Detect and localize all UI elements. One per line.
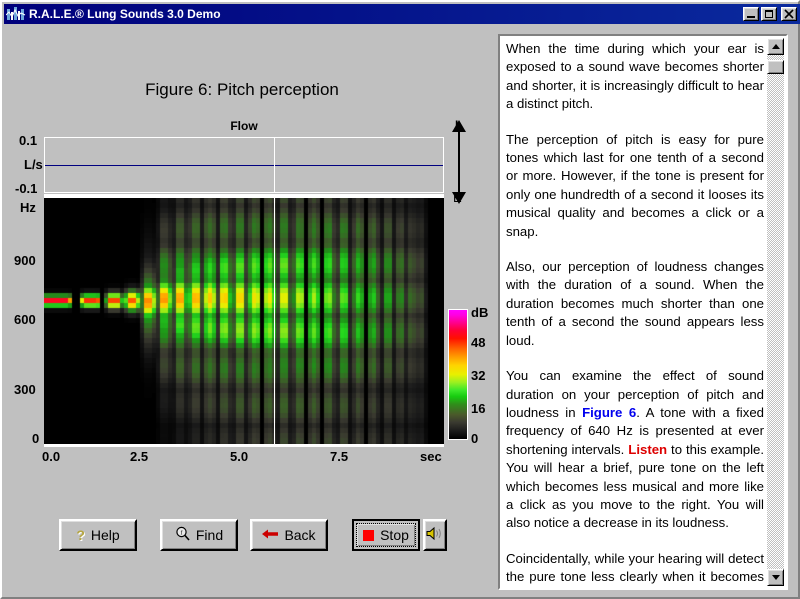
help-button[interactable]: ? Help [59, 519, 137, 551]
colorbar-unit-label: dB [471, 305, 488, 320]
close-icon [782, 8, 796, 20]
window-controls [743, 7, 797, 21]
stop-square-icon [363, 530, 374, 541]
figure-link[interactable]: Figure 6 [582, 405, 636, 420]
magnifier-icon: f [175, 526, 190, 544]
frequency-tick-600: 600 [14, 312, 36, 327]
svg-text:f: f [180, 529, 182, 536]
flow-zero-line [45, 165, 443, 166]
scrollbar-thumb[interactable] [767, 60, 784, 74]
time-tick-0: 0.0 [42, 449, 60, 464]
paragraph: Coincidentally, while your hearing will … [506, 550, 764, 590]
frequency-tick-900: 900 [14, 253, 36, 268]
explanation-text-panel[interactable]: When the time during which your ear is e… [498, 34, 788, 590]
back-button[interactable]: Back [250, 519, 328, 551]
triangle-up-icon [772, 44, 780, 49]
colorbar-tick-32: 32 [471, 368, 485, 383]
flow-axis-unit-label: L/s [24, 157, 43, 172]
find-button[interactable]: f Find [160, 519, 238, 551]
spectrogram-cursor-line [274, 198, 275, 444]
title-bar[interactable]: R.A.L.E.® Lung Sounds 3.0 Demo [4, 4, 800, 24]
maximize-button[interactable] [761, 7, 777, 21]
time-axis-unit: sec [420, 449, 442, 464]
scrollbar-vertical[interactable] [767, 38, 784, 586]
colorbar-tick-0: 0 [471, 431, 478, 446]
question-mark-icon: ? [76, 527, 85, 543]
explanation-text: When the time during which your ear is e… [506, 40, 764, 590]
find-button-label: Find [196, 527, 223, 543]
expiration-label: E [453, 190, 462, 205]
paragraph: When the time during which your ear is e… [506, 40, 764, 114]
colorbar-tick-16: 16 [471, 401, 485, 416]
stop-button-label: Stop [380, 527, 409, 543]
decibel-colorbar [448, 309, 468, 440]
speaker-icon [426, 526, 444, 544]
figure-title: Figure 6: Pitch perception [2, 80, 482, 100]
listen-link[interactable]: Listen [628, 442, 667, 457]
flow-panel [44, 137, 444, 193]
frequency-axis-unit: Hz [20, 200, 36, 215]
scroll-down-button[interactable] [767, 569, 784, 586]
back-button-label: Back [284, 527, 315, 543]
flow-cursor-line [274, 138, 275, 192]
arrow-left-icon [262, 527, 278, 543]
text-run: Also, our perception of loudness changes… [506, 259, 764, 348]
colorbar-tick-48: 48 [471, 335, 485, 350]
text-run: The perception of pitch is easy for pure… [506, 132, 764, 239]
scroll-up-button[interactable] [767, 38, 784, 55]
frequency-tick-300: 300 [14, 382, 36, 397]
spectrogram-canvas[interactable] [44, 198, 444, 444]
spectrogram[interactable] [44, 198, 444, 444]
spectrogram-bottom-border [44, 444, 444, 447]
waveform-icon [6, 6, 26, 22]
button-bar: ? Help f Find Back [2, 519, 482, 553]
text-run: Coincidentally, while your hearing will … [506, 551, 764, 590]
window-title: R.A.L.E.® Lung Sounds 3.0 Demo [29, 7, 743, 21]
paragraph: The perception of pitch is easy for pure… [506, 131, 764, 241]
help-button-label: Help [91, 527, 120, 543]
stop-button[interactable]: Stop [352, 519, 420, 551]
time-tick-5.0: 5.0 [230, 449, 248, 464]
frequency-tick-0: 0 [32, 431, 39, 446]
time-tick-7.5: 7.5 [330, 449, 348, 464]
flow-axis-min-label: -0.1 [15, 181, 37, 196]
application-window: R.A.L.E.® Lung Sounds 3.0 Demo Figure 6:… [0, 0, 800, 599]
close-button[interactable] [781, 7, 797, 21]
time-tick-2.5: 2.5 [130, 449, 148, 464]
speaker-button[interactable] [423, 519, 447, 551]
flow-panel-label: Flow [44, 119, 444, 133]
paragraph: You can examine the effect of sound dura… [506, 367, 764, 533]
triangle-down-icon [772, 575, 780, 580]
paragraph: Also, our perception of loudness changes… [506, 258, 764, 350]
stop-button-inner[interactable]: Stop [356, 523, 416, 547]
text-run: When the time during which your ear is e… [506, 41, 764, 111]
minimize-button[interactable] [743, 7, 759, 21]
flow-axis-max-label: 0.1 [19, 133, 37, 148]
